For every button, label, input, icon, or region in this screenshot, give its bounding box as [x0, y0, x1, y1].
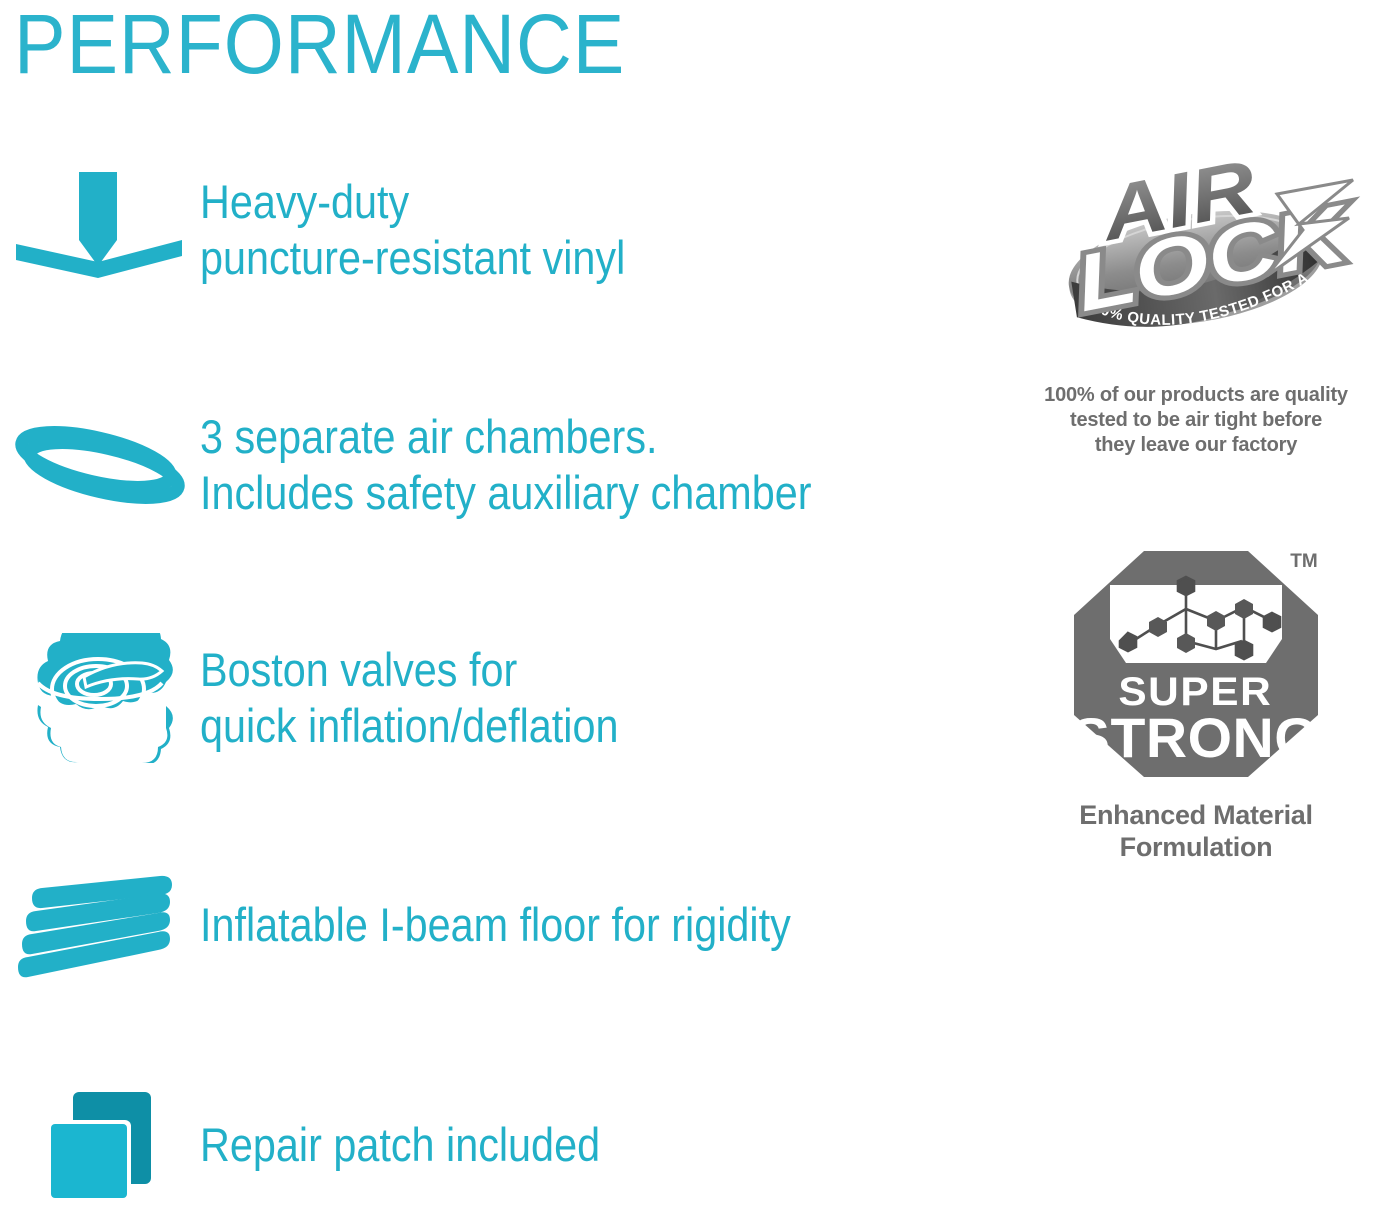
- super-strong-badge-art: SUPER STRONG TM: [1000, 545, 1392, 785]
- air-lock-caption: 100% of our products are quality tested …: [1000, 383, 1392, 458]
- feature-text: Boston valves for quick inflation/deflat…: [200, 642, 922, 754]
- feature-row: 3 separate air chambers. Includes safety…: [0, 375, 1020, 555]
- repair-patch-icon: [0, 1080, 200, 1210]
- air-lock-badge: 100% QUALITY TESTED FOR AIR TIGHTNESS AI…: [1000, 150, 1392, 458]
- feature-row: Inflatable I-beam floor for rigidity: [0, 855, 1020, 995]
- boston-valve-icon: [0, 633, 200, 763]
- super-strong-word-bottom: STRONG: [1072, 707, 1319, 769]
- air-lock-badge-art: 100% QUALITY TESTED FOR AIR TIGHTNESS AI…: [1000, 150, 1392, 365]
- puncture-resistance-icon: [0, 170, 200, 290]
- feature-text: 3 separate air chambers. Includes safety…: [200, 409, 922, 521]
- i-beam-floor-icon: [0, 870, 200, 980]
- air-chambers-icon: [0, 408, 200, 523]
- feature-row: Heavy-duty puncture-resistant vinyl: [0, 140, 1020, 320]
- super-strong-badge: SUPER STRONG TM Enhanced Material Formul…: [1000, 545, 1392, 863]
- molecule-panel: [1110, 585, 1282, 663]
- feature-text: Inflatable I-beam floor for rigidity: [200, 897, 922, 953]
- trademark-mark: TM: [1290, 551, 1317, 572]
- feature-text: Repair patch included: [200, 1117, 922, 1173]
- page-title: PERFORMANCE: [14, 0, 625, 92]
- super-strong-caption: Enhanced Material Formulation: [1000, 799, 1392, 863]
- feature-text: Heavy-duty puncture-resistant vinyl: [200, 174, 922, 286]
- feature-row: Repair patch included: [0, 1065, 1020, 1225]
- feature-row: Boston valves for quick inflation/deflat…: [0, 608, 1020, 788]
